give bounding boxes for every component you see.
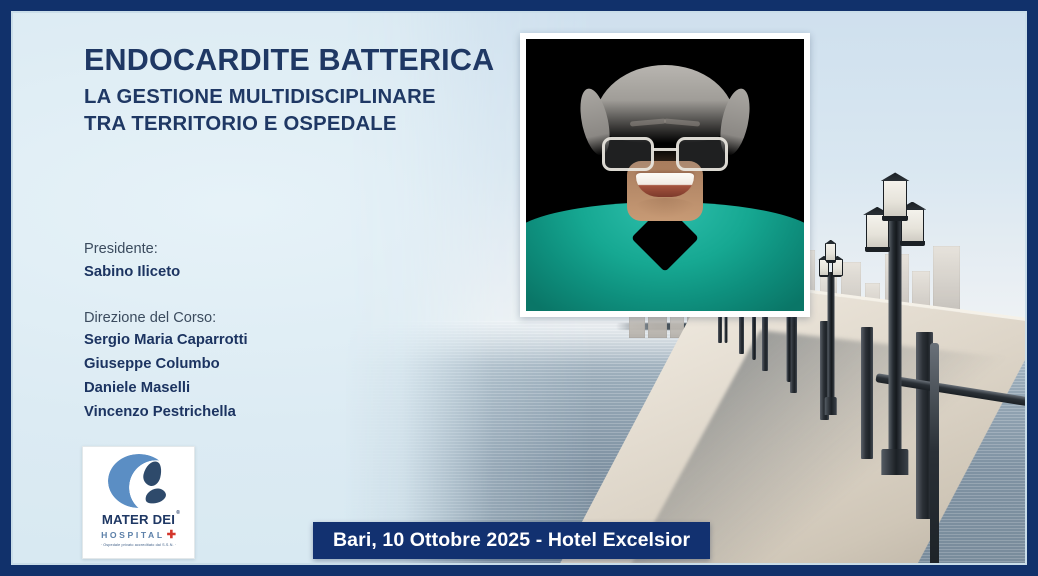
date-venue-text: Bari, 10 Ottobre 2025 - Hotel Excelsior: [333, 529, 690, 552]
lens-right: [676, 137, 728, 171]
speaker-portrait: [520, 33, 810, 317]
lamp-post-foreground-1: [889, 217, 902, 476]
director-name-3: Daniele Maselli: [84, 377, 248, 401]
registered-mark: ®: [176, 510, 180, 516]
medical-cross-icon: ✚: [167, 528, 176, 541]
credits-block: Presidente: Sabino Iliceto Direzione del…: [84, 238, 248, 425]
title-line-3: TRA TERRITORIO E OSPEDALE: [84, 111, 494, 137]
crescent-mother-child-icon: [108, 454, 170, 508]
logo-subtitle-text: HOSPITAL: [101, 530, 165, 540]
president-name: Sabino Iliceto: [84, 261, 248, 285]
director-name-4: Vincenzo Pestrichella: [84, 401, 248, 425]
logo-fine-print: · Ospedale privato accreditato dal S.S.N…: [101, 543, 177, 547]
poster-frame: ENDOCARDITE BATTERICA LA GESTIONE MULTID…: [0, 0, 1038, 576]
logo-subtitle: HOSPITAL ✚: [101, 528, 176, 541]
poster-inner: ENDOCARDITE BATTERICA LA GESTIONE MULTID…: [11, 11, 1027, 565]
date-venue-banner: Bari, 10 Ottobre 2025 - Hotel Excelsior: [313, 522, 710, 559]
title-line-1: ENDOCARDITE BATTERICA: [84, 43, 494, 77]
credits-spacer: [84, 285, 248, 307]
director-name-1: Sergio Maria Caparrotti: [84, 329, 248, 353]
logo-name-text: MATER DEI: [102, 512, 175, 527]
direction-label: Direzione del Corso:: [84, 307, 248, 330]
title-line-2: LA GESTIONE MULTIDISCIPLINARE: [84, 84, 494, 110]
glasses-icon: [602, 137, 728, 171]
lens-left: [602, 137, 654, 171]
director-name-2: Giuseppe Columbo: [84, 353, 248, 377]
smile: [636, 173, 694, 197]
president-label: Presidente:: [84, 238, 248, 261]
lamp-post-mid-2: [827, 272, 834, 415]
page-title: ENDOCARDITE BATTERICA LA GESTIONE MULTID…: [84, 43, 494, 137]
glasses-bridge: [653, 148, 677, 151]
chin: [634, 198, 696, 218]
logo-name: MATER DEI®: [102, 512, 175, 527]
mater-dei-logo: MATER DEI® HOSPITAL ✚ · Ospedale privato…: [82, 446, 195, 559]
portrait-image: [526, 39, 804, 311]
hair: [595, 65, 735, 143]
